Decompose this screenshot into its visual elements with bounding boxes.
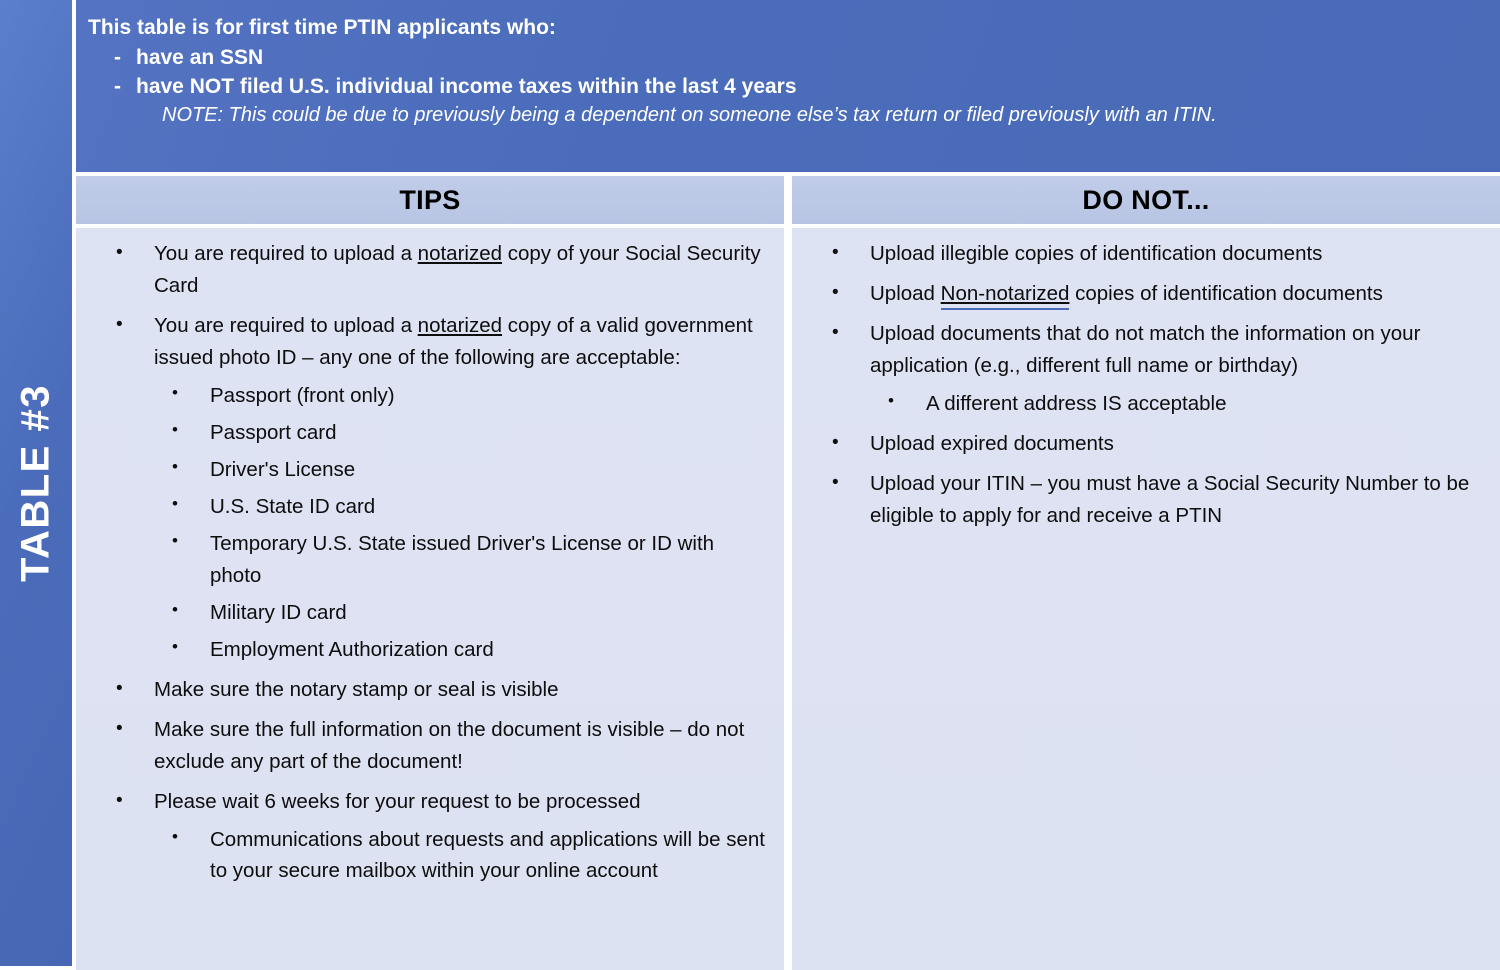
banner-bullet-ssn: - have an SSN — [88, 44, 1482, 73]
bullet-icon: • — [172, 824, 178, 851]
do-not-item-label: Upload your ITIN – you must have a Socia… — [870, 472, 1469, 527]
tips-subitem: •Passport (front only) — [154, 380, 770, 412]
do-not-item-label: Upload illegible copies of identificatio… — [870, 242, 1322, 265]
tips-subitem-label: Communications about requests and applic… — [210, 828, 765, 883]
column-header-do-not-label: DO NOT... — [1082, 185, 1209, 216]
tips-item: •You are required to upload a notarized … — [86, 238, 770, 302]
bullet-icon: • — [172, 417, 178, 444]
do-not-item-label: Upload Non-notarized copies of identific… — [870, 282, 1383, 305]
bullet-icon: • — [116, 786, 123, 816]
bullet-icon: • — [172, 491, 178, 518]
do-not-item: •Upload Non-notarized copies of identifi… — [802, 278, 1486, 310]
bullet-icon: • — [832, 468, 839, 498]
tips-item: •Please wait 6 weeks for your request to… — [86, 786, 770, 888]
tips-subitem-label: Driver's License — [210, 458, 355, 481]
do-not-item: •Upload illegible copies of identificati… — [802, 238, 1486, 270]
banner-bullet-ssn-label: have an SSN — [136, 44, 263, 73]
tips-item-label: Make sure the notary stamp or seal is vi… — [154, 678, 558, 701]
do-not-subitem: •A different address IS acceptable — [870, 388, 1486, 420]
tips-list: •You are required to upload a notarized … — [86, 238, 770, 887]
column-header-tips: TIPS — [76, 176, 784, 224]
do-not-item: •Upload your ITIN – you must have a Soci… — [802, 468, 1486, 532]
bullet-icon: • — [116, 674, 123, 704]
bullet-icon: • — [116, 310, 123, 340]
bullet-icon: • — [832, 428, 839, 458]
tips-subitem: •Military ID card — [154, 597, 770, 629]
tips-subitem: •Communications about requests and appli… — [154, 824, 770, 888]
do-not-item: •Upload expired documents — [802, 428, 1486, 460]
bullet-icon: • — [172, 597, 178, 624]
tips-item: •Make sure the full information on the d… — [86, 714, 770, 778]
do-not-list: •Upload illegible copies of identificati… — [802, 238, 1486, 532]
tips-item-label: You are required to upload a notarized c… — [154, 314, 753, 369]
tips-subitem: •Passport card — [154, 417, 770, 449]
tips-subitem: •Temporary U.S. State issued Driver's Li… — [154, 528, 770, 592]
table-header-row: TIPS DO NOT... — [76, 176, 1500, 224]
bullet-icon: • — [172, 634, 178, 661]
column-divider — [784, 228, 792, 970]
tips-subitem-label: Military ID card — [210, 601, 347, 624]
tips-subitem-label: U.S. State ID card — [210, 495, 375, 518]
do-not-item-label: Upload expired documents — [870, 432, 1114, 455]
underlined-term: notarized — [418, 242, 502, 265]
banner-bullet-not-filed-label: have NOT filed U.S. individual income ta… — [136, 73, 797, 102]
column-header-tips-label: TIPS — [399, 185, 460, 216]
tips-sublist: •Passport (front only)•Passport card•Dri… — [154, 380, 770, 666]
bullet-icon: • — [888, 388, 894, 415]
tips-item: •Make sure the notary stamp or seal is v… — [86, 674, 770, 706]
do-not-sublist: •A different address IS acceptable — [870, 388, 1486, 420]
column-divider — [784, 176, 792, 224]
bullet-icon: • — [832, 278, 839, 308]
banner-bullet-not-filed: - have NOT filed U.S. individual income … — [88, 73, 1482, 102]
banner-title: This table is for first time PTIN applic… — [88, 14, 1482, 42]
table-number-label: TABLE #3 — [14, 384, 59, 582]
tips-subitem: •U.S. State ID card — [154, 491, 770, 523]
header-banner: This table is for first time PTIN applic… — [76, 0, 1500, 172]
table-body-row: •You are required to upload a notarized … — [76, 228, 1500, 970]
bullet-icon: • — [832, 318, 839, 348]
tips-sublist: •Communications about requests and appli… — [154, 824, 770, 888]
column-header-do-not: DO NOT... — [792, 176, 1500, 224]
tips-subitem: •Employment Authorization card — [154, 634, 770, 666]
underlined-term: Non-notarized — [941, 282, 1070, 305]
bullet-icon: • — [832, 238, 839, 268]
do-not-subitem-label: A different address IS acceptable — [926, 392, 1226, 415]
do-not-item: •Upload documents that do not match the … — [802, 318, 1486, 420]
dash-marker: - — [88, 44, 136, 73]
bullet-icon: • — [172, 454, 178, 481]
underlined-term: notarized — [418, 314, 502, 337]
tips-subitem-label: Passport (front only) — [210, 384, 395, 407]
tips-donot-table: TIPS DO NOT... •You are required to uplo… — [76, 176, 1500, 966]
do-not-item-label: Upload documents that do not match the i… — [870, 322, 1420, 377]
tips-item-label: You are required to upload a notarized c… — [154, 242, 761, 297]
banner-note: NOTE: This could be due to previously be… — [162, 102, 1482, 130]
slide-page: TABLE #3 This table is for first time PT… — [0, 0, 1500, 966]
tips-cell: •You are required to upload a notarized … — [76, 228, 784, 970]
tips-item-label: Please wait 6 weeks for your request to … — [154, 790, 641, 813]
bullet-icon: • — [172, 380, 178, 407]
tips-item-label: Make sure the full information on the do… — [154, 718, 744, 773]
do-not-cell: •Upload illegible copies of identificati… — [792, 228, 1500, 970]
bullet-icon: • — [116, 238, 123, 268]
dash-marker: - — [88, 73, 136, 102]
tips-subitem: •Driver's License — [154, 454, 770, 486]
tips-subitem-label: Temporary U.S. State issued Driver's Lic… — [210, 532, 714, 587]
table-number-side-band: TABLE #3 — [0, 0, 72, 966]
bullet-icon: • — [172, 528, 178, 555]
tips-subitem-label: Employment Authorization card — [210, 638, 494, 661]
tips-subitem-label: Passport card — [210, 421, 336, 444]
bullet-icon: • — [116, 714, 123, 744]
tips-item: •You are required to upload a notarized … — [86, 310, 770, 666]
